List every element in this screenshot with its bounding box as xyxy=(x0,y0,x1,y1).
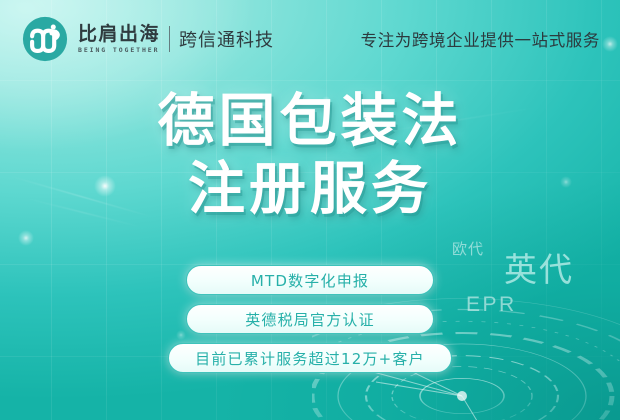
brand-lockup: 比肩出海 BEING TOGETHER 跨信通科技 xyxy=(22,16,274,62)
feature-pill-customers[interactable]: 目前已累计服务超过12万+客户 xyxy=(168,343,452,373)
header-tagline: 专注为跨境企业提供一站式服务 xyxy=(361,27,600,51)
feature-pill-certified[interactable]: 英德税局官方认证 xyxy=(186,304,434,334)
hero-title: 德国包装法 注册服务 xyxy=(0,90,620,220)
feature-pill-list: MTD数字化申报 英德税局官方认证 目前已累计服务超过12万+客户 xyxy=(0,265,620,373)
watermark-ou-dai: 欧代 xyxy=(452,238,484,259)
brand-separator xyxy=(169,26,170,52)
promo-banner: 欧代 英代 EPR xyxy=(0,0,620,420)
hero-title-line-1: 德国包装法 xyxy=(0,90,620,152)
banner-header: 比肩出海 BEING TOGETHER 跨信通科技 专注为跨境企业提供一站式服务 xyxy=(0,0,620,78)
brand-primary: 比肩出海 BEING TOGETHER xyxy=(78,25,160,54)
brand-subsidiary: 跨信通科技 xyxy=(179,26,274,52)
feature-pill-mtd[interactable]: MTD数字化申报 xyxy=(186,265,434,295)
glow-particle xyxy=(18,230,34,246)
brand-name-en: BEING TOGETHER xyxy=(78,47,160,54)
company-logo-icon xyxy=(22,16,68,62)
hero-title-line-2: 注册服务 xyxy=(0,158,620,220)
brand-names: 比肩出海 BEING TOGETHER 跨信通科技 xyxy=(78,25,274,54)
brand-name-cn: 比肩出海 xyxy=(78,25,160,44)
